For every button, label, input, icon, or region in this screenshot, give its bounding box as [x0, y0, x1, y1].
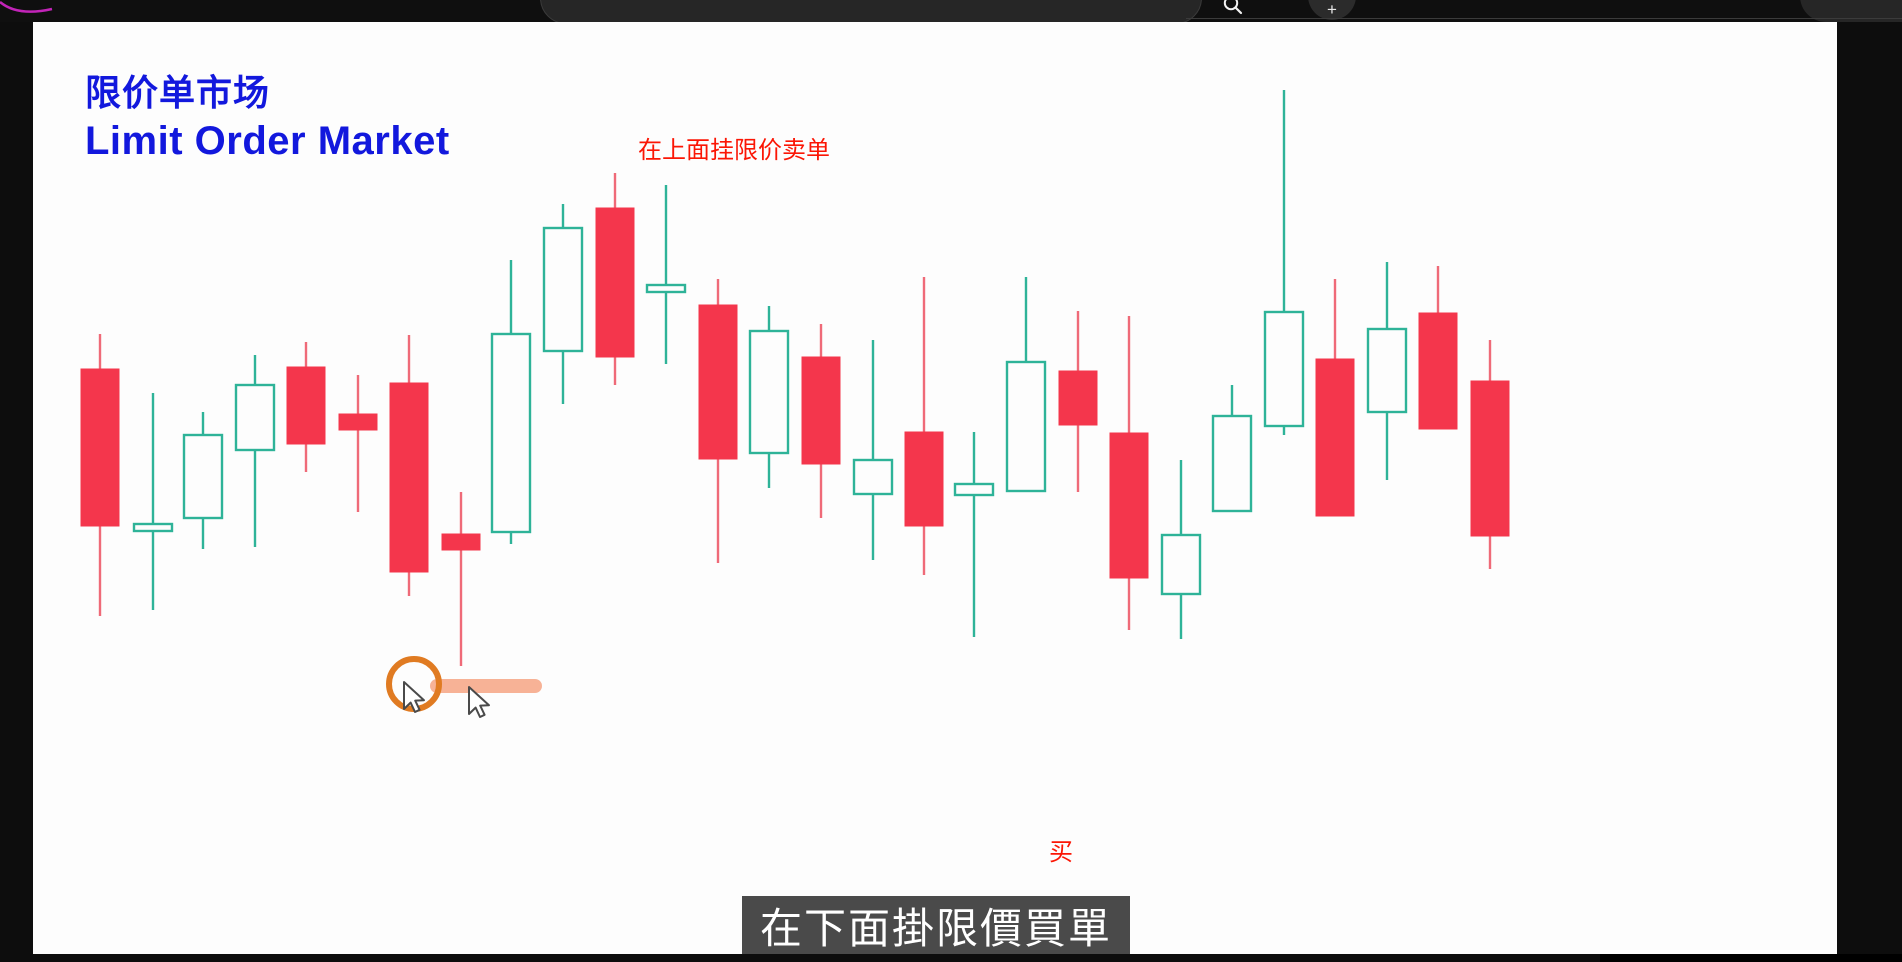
title-block: 限价单市场 Limit Order Market	[85, 70, 450, 165]
candle-body	[287, 367, 325, 444]
candle-body	[854, 460, 892, 494]
candlestick	[955, 432, 993, 637]
candle-body	[492, 334, 530, 532]
candle-body	[236, 385, 274, 450]
subtitle-caption: 在下面掛限價買單	[742, 896, 1130, 954]
window-bottom-strip	[1600, 954, 1902, 962]
candle-body	[184, 435, 222, 518]
search-icon[interactable]	[1222, 0, 1244, 16]
candlestick	[339, 375, 377, 512]
candlestick	[544, 204, 582, 404]
candle-body	[339, 414, 377, 430]
candle-body	[1213, 416, 1251, 511]
candlestick	[1059, 311, 1097, 492]
candlestick	[81, 334, 119, 616]
candle-body	[647, 285, 685, 292]
candlestick	[184, 412, 222, 549]
candle-body	[1316, 359, 1354, 516]
decorative-curve-icon	[0, 0, 70, 16]
candle-body	[699, 305, 737, 459]
candlestick	[1110, 316, 1148, 630]
candle-body	[81, 369, 119, 526]
candle-body	[1162, 535, 1200, 594]
candlestick	[905, 277, 943, 575]
candlestick	[442, 492, 480, 666]
candle-body	[390, 383, 428, 572]
slide-canvas: 限价单市场 Limit Order Market 在上面挂限价卖单 买 在下面掛…	[33, 22, 1837, 954]
candle-body	[1471, 381, 1509, 536]
candlestick	[596, 173, 634, 385]
candlestick	[492, 260, 530, 544]
candlestick	[134, 393, 172, 610]
toolbar-pill-center[interactable]	[540, 0, 1202, 24]
candlestick	[1213, 385, 1251, 511]
candle-body	[750, 331, 788, 453]
candle-body	[955, 484, 993, 495]
candle-body	[1110, 433, 1148, 578]
candle-body	[1368, 329, 1406, 412]
candlestick	[287, 342, 325, 472]
page-title-en: Limit Order Market	[85, 117, 450, 165]
app-window: + 限价单市场 Limit Order Market 在上面挂限价卖单 买 在下…	[0, 0, 1902, 962]
candle-body	[134, 524, 172, 531]
candle-body	[905, 432, 943, 526]
candlestick	[1471, 340, 1509, 569]
candlestick	[1316, 279, 1354, 516]
candlestick	[236, 355, 274, 547]
candlestick	[802, 324, 840, 518]
candlestick	[699, 279, 737, 563]
annotation-buy: 买	[1049, 832, 1073, 867]
candlestick	[1368, 262, 1406, 480]
candle-body	[596, 208, 634, 357]
candle-body	[1007, 362, 1045, 491]
candlestick	[1162, 460, 1200, 639]
annotation-sell-above: 在上面挂限价卖单	[638, 130, 830, 165]
candlestick	[750, 306, 788, 488]
candle-body	[1419, 313, 1457, 429]
candle-body	[1059, 371, 1097, 425]
candlestick	[1419, 266, 1457, 429]
candlestick	[1265, 90, 1303, 435]
candlestick	[390, 335, 428, 596]
candlestick	[647, 185, 685, 364]
page-title-zh: 限价单市场	[85, 70, 450, 115]
candle-body	[1265, 312, 1303, 426]
candle-body	[442, 534, 480, 550]
toolbar-divider	[1186, 18, 1902, 19]
candle-body	[802, 357, 840, 464]
candle-body	[544, 228, 582, 351]
candlestick	[854, 340, 892, 560]
candlestick	[1007, 277, 1045, 491]
